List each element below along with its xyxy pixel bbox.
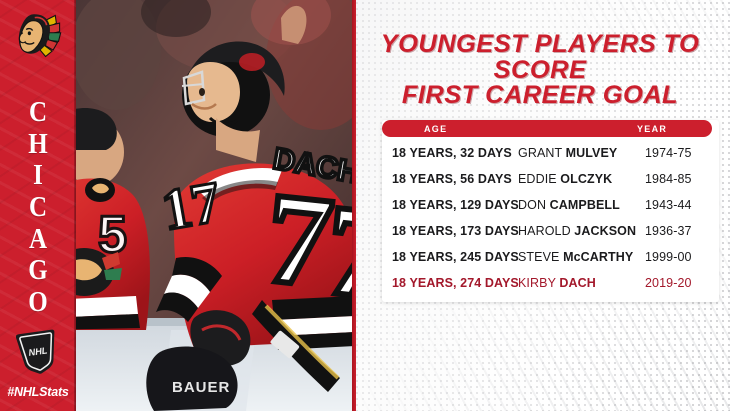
team-letter-i: I (33, 162, 43, 190)
headline-line-1: YOUNGEST PLAYERS TO SCORE (362, 32, 719, 83)
blackhawks-logo (11, 9, 65, 63)
nhl-stats-hashtag: #NHLStats (0, 385, 76, 399)
cell-player-name: DON CAMPBELL (518, 198, 620, 212)
cell-age: 18 YEARS, 274 DAYS (392, 276, 519, 290)
team-letter-c2: C (29, 193, 47, 221)
cell-player-name: GRANT MULVEY (518, 146, 617, 160)
table-row: 18 YEARS, 129 DAYSDON CAMPBELL1943-44 (382, 194, 719, 220)
player-last-name: OLCZYK (560, 172, 612, 186)
cell-player-name: EDDIE OLCZYK (518, 172, 612, 186)
table-header-year: YEAR (637, 124, 667, 134)
player-last-name: CAMPBELL (550, 198, 620, 212)
player-last-name: JACKSON (574, 224, 636, 238)
table-body: 18 YEARS, 32 DAYSGRANT MULVEY1974-7518 Y… (382, 142, 719, 298)
cell-year: 1943-44 (645, 198, 692, 212)
table-row: 18 YEARS, 274 DAYSKIRBY DACH2019-20 (382, 272, 719, 298)
cell-year: 1974-75 (645, 146, 692, 160)
cell-age: 18 YEARS, 32 DAYS (392, 146, 512, 160)
player-photo: 5 DACH 7 7 17 (76, 0, 355, 411)
team-letter-h: H (28, 130, 47, 158)
nhl-stats-graphic: C H I C A G O NHL #NHLStats (0, 0, 730, 411)
team-letter-g: G (28, 257, 47, 285)
player-first-name: GRANT (518, 146, 566, 160)
player-last-name: MULVEY (566, 146, 618, 160)
cell-age: 18 YEARS, 56 DAYS (392, 172, 512, 186)
photo-red-divider (352, 0, 356, 411)
cell-player-name: STEVE McCARTHY (518, 250, 633, 264)
team-letter-a: A (29, 225, 47, 253)
table-row: 18 YEARS, 245 DAYSSTEVE McCARTHY1999-00 (382, 246, 719, 272)
table-row: 18 YEARS, 173 DAYSHAROLD JACKSON1936-37 (382, 220, 719, 246)
table-header-age: AGE (424, 124, 447, 134)
table-header: AGE YEAR (382, 120, 712, 137)
svg-text:BAUER: BAUER (172, 379, 230, 396)
headline-line-2: FIRST CAREER GOAL (362, 83, 719, 109)
cell-year: 1984-85 (645, 172, 692, 186)
cell-year: 1999-00 (645, 250, 692, 264)
cell-year: 1936-37 (645, 224, 692, 238)
player-first-name: DON (518, 198, 550, 212)
player-first-name: EDDIE (518, 172, 560, 186)
cell-age: 18 YEARS, 129 DAYS (392, 198, 519, 212)
player-first-name: KIRBY (518, 276, 559, 290)
cell-age: 18 YEARS, 173 DAYS (392, 224, 519, 238)
team-letter-o: O (28, 288, 47, 316)
player-first-name: HAROLD (518, 224, 574, 238)
cell-year: 2019-20 (645, 276, 692, 290)
headline-block: YOUNGEST PLAYERS TO SCORE FIRST CAREER G… (365, 32, 715, 132)
table-row: 18 YEARS, 32 DAYSGRANT MULVEY1974-75 (382, 142, 719, 168)
nhl-shield-logo: NHL (16, 329, 60, 375)
player-first-name: STEVE (518, 250, 563, 264)
team-letter-c1: C (29, 99, 47, 127)
cell-player-name: KIRBY DACH (518, 276, 596, 290)
svg-text:17: 17 (157, 169, 225, 243)
cell-player-name: HAROLD JACKSON (518, 224, 636, 238)
team-name-vertical: C H I C A G O (0, 100, 76, 315)
player-last-name: DACH (559, 276, 596, 290)
player-last-name: McCARTHY (563, 250, 633, 264)
team-banner: C H I C A G O NHL #NHLStats (0, 0, 76, 411)
stats-table-panel: AGE YEAR 18 YEARS, 32 DAYSGRANT MULVEY19… (382, 120, 719, 302)
cell-age: 18 YEARS, 245 DAYS (392, 250, 519, 264)
table-row: 18 YEARS, 56 DAYSEDDIE OLCZYK1984-85 (382, 168, 719, 194)
player-photo-illustration: 5 DACH 7 7 17 (76, 0, 355, 411)
